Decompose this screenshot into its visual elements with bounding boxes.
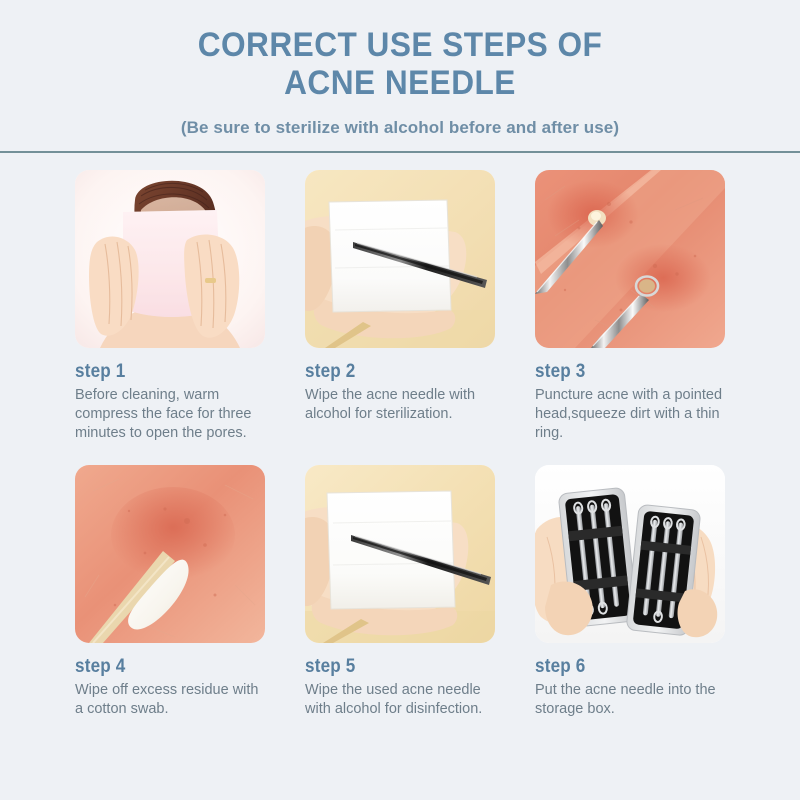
steps-grid: step 1 Before cleaning, warm compress th… [0,170,800,719]
step-card-5: step 5 Wipe the used acne needle with al… [305,465,495,719]
hand-holding-cotton-pad-wiping-used-needle-illustration [305,465,495,643]
needle-puncturing-acne-on-skin-illustration [535,170,725,348]
page-title-line-2: ACNE NEEDLE [93,64,707,102]
header: CORRECT USE STEPS OF ACNE NEEDLE (Be sur… [0,0,800,138]
woman-warm-compress-towel-on-face-illustration [75,170,265,348]
infographic-page: CORRECT USE STEPS OF ACNE NEEDLE (Be sur… [0,0,800,800]
step-text-3: Puncture acne with a pointed head,squeez… [535,386,723,443]
step-text-1: Before cleaning, warm compress the face … [75,386,263,443]
step-text-6: Put the acne needle into the storage box… [535,681,723,719]
page-title-line-1: CORRECT USE STEPS OF [93,26,707,64]
step-photo-5 [305,465,495,643]
step-photo-2 [305,170,495,348]
hand-holding-cotton-pad-wiping-needle-illustration [305,170,495,348]
step-card-1: step 1 Before cleaning, warm compress th… [75,170,265,443]
step-text-4: Wipe off excess residue with a cotton sw… [75,681,263,719]
page-subtitle: (Be sure to sterilize with alcohol befor… [0,118,800,138]
header-divider [0,151,800,153]
step-photo-1 [75,170,265,348]
step-card-6: step 6 Put the acne needle into the stor… [535,465,725,719]
step-label-4: step 4 [75,656,246,678]
step-label-3: step 3 [535,361,706,383]
step-label-5: step 5 [305,656,476,678]
step-photo-4 [75,465,265,643]
step-label-2: step 2 [305,361,476,383]
step-label-1: step 1 [75,361,246,383]
step-card-3: step 3 Puncture acne with a pointed head… [535,170,725,443]
step-photo-3 [535,170,725,348]
step-photo-6 [535,465,725,643]
step-text-2: Wipe the acne needle with alcohol for st… [305,386,493,424]
step-card-4: step 4 Wipe off excess residue with a co… [75,465,265,719]
step-label-6: step 6 [535,656,706,678]
step-card-2: step 2 Wipe the acne needle with alcohol… [305,170,495,443]
cotton-swab-wiping-acne-skin-illustration [75,465,265,643]
step-text-5: Wipe the used acne needle with alcohol f… [305,681,493,719]
page-title: CORRECT USE STEPS OF ACNE NEEDLE [93,26,707,102]
hand-holding-open-storage-case-with-tools-illustration [535,465,725,643]
